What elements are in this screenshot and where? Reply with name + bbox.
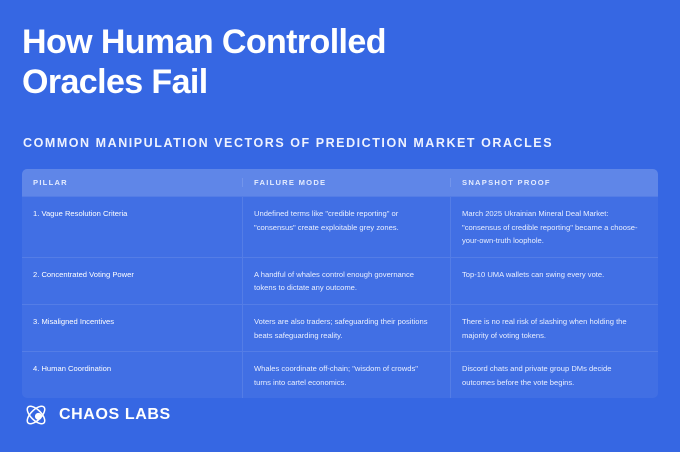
cell-failure-mode: A handful of whales control enough gover…: [242, 258, 450, 304]
manipulation-vectors-table: PILLAR FAILURE MODE SNAPSHOT PROOF 1. Va…: [22, 169, 658, 398]
column-header-snapshot-proof: SNAPSHOT PROOF: [450, 178, 658, 187]
page-subtitle: COMMON MANIPULATION VECTORS OF PREDICTIO…: [23, 136, 553, 150]
cell-snapshot-proof: Top-10 UMA wallets can swing every vote.: [450, 258, 658, 304]
column-header-failure-mode: FAILURE MODE: [242, 178, 450, 187]
table-row: 1. Vague Resolution Criteria Undefined t…: [22, 196, 658, 257]
cell-failure-mode: Undefined terms like "credible reporting…: [242, 197, 450, 257]
cell-failure-mode: Whales coordinate off-chain; "wisdom of …: [242, 352, 450, 398]
table-row: 3. Misaligned Incentives Voters are also…: [22, 304, 658, 351]
table-row: 2. Concentrated Voting Power A handful o…: [22, 257, 658, 304]
brand-name: CHAOS LABS: [59, 406, 171, 424]
cell-pillar: 2. Concentrated Voting Power: [22, 268, 242, 282]
cell-pillar: 1. Vague Resolution Criteria: [22, 207, 242, 221]
slide-root: How Human Controlled Oracles Fail COMMON…: [0, 0, 680, 452]
table-row: 4. Human Coordination Whales coordinate …: [22, 351, 658, 398]
cell-snapshot-proof: March 2025 Ukrainian Mineral Deal Market…: [450, 197, 658, 257]
column-header-pillar: PILLAR: [22, 178, 242, 187]
cell-failure-mode: Voters are also traders; safeguarding th…: [242, 305, 450, 351]
page-title: How Human Controlled Oracles Fail: [22, 22, 622, 102]
cell-snapshot-proof: Discord chats and private group DMs deci…: [450, 352, 658, 398]
table-header-row: PILLAR FAILURE MODE SNAPSHOT PROOF: [22, 169, 658, 196]
cell-snapshot-proof: There is no real risk of slashing when h…: [450, 305, 658, 351]
atom-orbital-icon: [23, 402, 49, 428]
footer-brand: CHAOS LABS: [23, 402, 171, 428]
cell-pillar: 4. Human Coordination: [22, 362, 242, 376]
cell-pillar: 3. Misaligned Incentives: [22, 315, 242, 329]
